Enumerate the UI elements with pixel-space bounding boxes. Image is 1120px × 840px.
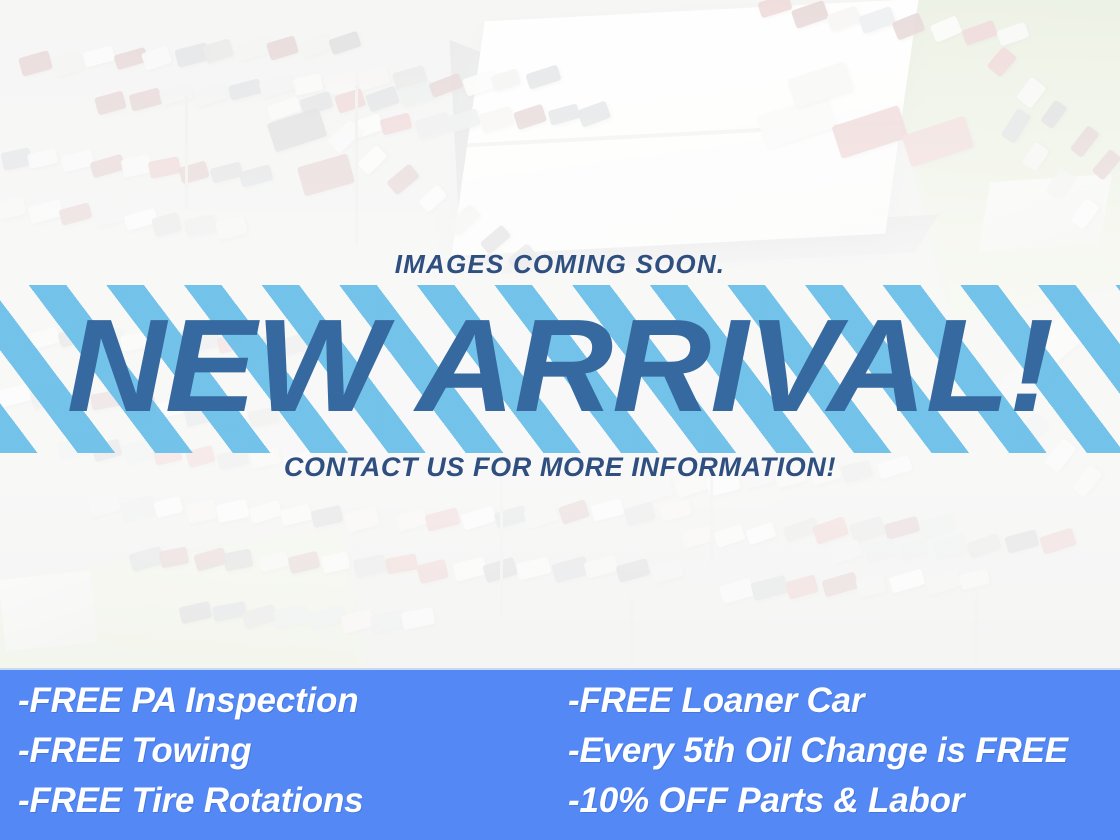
contact-us-tagline: CONTACT US FOR MORE INFORMATION! (0, 452, 1120, 483)
images-coming-soon-text: IMAGES COMING SOON. (0, 249, 1120, 280)
offer-item: -FREE Towing (18, 726, 560, 776)
offers-left-column: -FREE PA Inspection-FREE Towing-FREE Tir… (0, 676, 560, 840)
service-offers-banner: -FREE PA Inspection-FREE Towing-FREE Tir… (0, 668, 1120, 840)
offers-right-column: -FREE Loaner Car-Every 5th Oil Change is… (560, 676, 1120, 840)
offer-item: -Every 5th Oil Change is FREE (568, 726, 1120, 776)
offer-item: -FREE PA Inspection (18, 676, 560, 726)
offer-item: -FREE Tire Rotations (18, 776, 560, 826)
new-arrival-headline: NEW ARRIVAL! (0, 292, 1120, 440)
offer-item: -10% OFF Parts & Labor (568, 776, 1120, 826)
vehicle-placeholder-image: IMAGES COMING SOON. NEW ARRIVAL! CONTACT… (0, 0, 1120, 840)
offer-item: -FREE Loaner Car (568, 676, 1120, 726)
